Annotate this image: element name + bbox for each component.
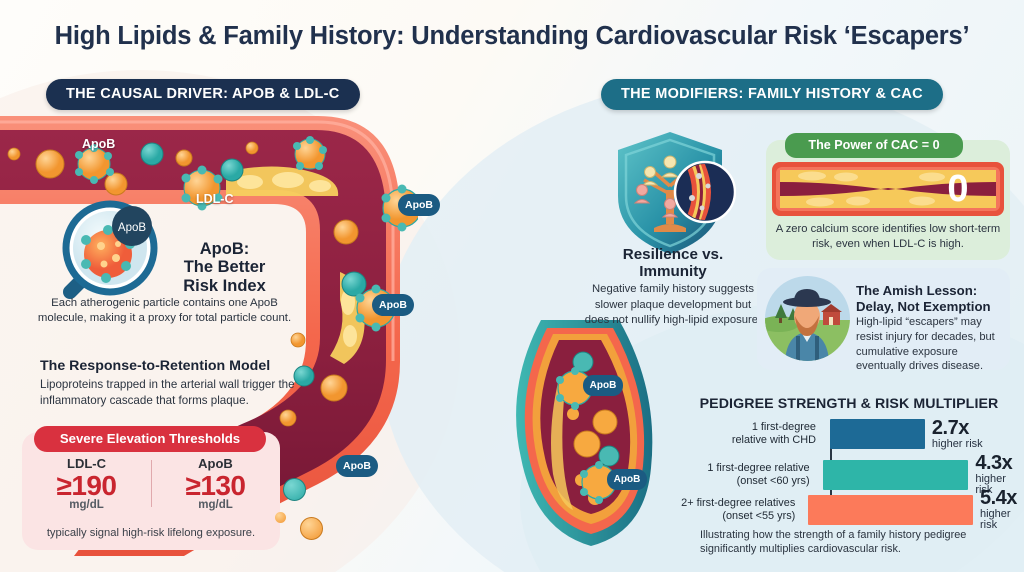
chart-category-line: relative with CHD	[732, 434, 816, 446]
threshold-item-ldlc: LDL-C ≥190 mg/dL	[22, 456, 151, 511]
chart-category-line: (onset <60 yrs)	[737, 475, 810, 487]
threshold-footer: typically signal high-risk lifelong expo…	[22, 527, 280, 539]
threshold-unit: mg/dL	[22, 499, 151, 511]
artery-particle-badge: ApoB	[398, 194, 440, 216]
threshold-value: ≥190	[22, 471, 151, 500]
chart-category-line: 1 first-degree relative	[707, 462, 809, 474]
chart-category-label: 2+ first-degree relatives (onset <55 yrs…	[660, 497, 802, 523]
chart-category-label: 1 first-degree relative (onset <60 yrs)	[660, 462, 817, 488]
amish-body: High-lipid “escapers” may resist injury …	[856, 315, 1008, 374]
apob-heading-line-2: The Better	[184, 258, 266, 276]
threshold-unit: mg/dL	[151, 499, 280, 511]
amish-heading-line-2: Delay, Not Exemption	[856, 299, 991, 314]
resilience-heading-line-1: Resilience vs.	[623, 246, 723, 263]
response-retention-heading: The Response-to-Retention Model	[40, 358, 270, 374]
free-particle-small-orange	[275, 512, 286, 523]
magnifier-badge-label: ApoB	[118, 222, 146, 234]
cac-panel-title: The Power of CAC = 0	[785, 133, 963, 158]
cac-caption: A zero calcium score identifies low shor…	[766, 222, 1010, 252]
chart-category-line: 2+ first-degree relatives	[681, 497, 795, 509]
pedigree-bar-chart: 1 first-degree relative with CHD 2.7x hi…	[660, 418, 1024, 518]
artery-label-ldlc: LDL-C	[196, 192, 234, 206]
chart-bar	[808, 495, 973, 525]
amish-portrait-image	[765, 276, 850, 361]
chart-value-sublabel: higher risk	[932, 439, 983, 450]
cac-score-value: 0	[935, 162, 981, 216]
apob-callout-body: Each atherogenic particle contains one A…	[32, 296, 297, 326]
chart-value-label: 2.7x	[932, 418, 983, 438]
shield-family-tree-icon	[604, 128, 736, 260]
artery-particle-badge: ApoB	[372, 294, 414, 316]
apob-callout-heading: ApoB: The Better Risk Index	[157, 240, 292, 295]
amish-heading: The Amish Lesson: Delay, Not Exemption	[856, 283, 1006, 314]
apob-heading-line-1: ApoB:	[200, 240, 249, 258]
chart-value-group: 5.4x higher risk	[980, 488, 1024, 531]
response-retention-body: Lipoproteins trapped in the arterial wal…	[40, 377, 318, 409]
pedigree-chart-caption: Illustrating how the strength of a famil…	[700, 528, 1020, 557]
chart-bar	[830, 419, 925, 449]
apob-heading-line-3: Risk Index	[183, 277, 266, 295]
threshold-item-apob: ApoB ≥130 mg/dL	[151, 456, 280, 511]
artery-particle-badge: ApoB	[607, 469, 647, 490]
chart-value-label: 5.4x	[980, 488, 1024, 508]
free-particle-orange	[300, 517, 323, 540]
infographic-canvas: High Lipids & Family History: Understand…	[0, 0, 1024, 572]
threshold-value: ≥130	[151, 471, 280, 500]
resilience-body: Negative family history suggests slower …	[584, 282, 762, 329]
chart-category-line: (onset <55 yrs)	[722, 510, 795, 522]
page-title: High Lipids & Family History: Understand…	[0, 22, 1024, 51]
chart-value-group: 2.7x higher risk	[932, 418, 983, 450]
threshold-card-title: Severe Elevation Thresholds	[34, 426, 266, 452]
amish-heading-line-1: The Amish Lesson:	[856, 283, 977, 298]
threshold-label: LDL-C	[22, 456, 151, 471]
section-header-modifiers: THE MODIFIERS: FAMILY HISTORY & CAC	[601, 79, 943, 110]
chart-category-line: 1 first-degree	[752, 421, 816, 433]
resilience-heading-line-2: Immunity	[639, 263, 707, 280]
resilience-heading: Resilience vs. Immunity	[598, 246, 748, 281]
chart-value-label: 4.3x	[975, 453, 1024, 473]
free-particle-teal	[283, 478, 306, 501]
artery-particle-badge: ApoB	[336, 455, 378, 477]
artery-illustration-secondary	[495, 318, 675, 548]
section-header-causal-driver: THE CAUSAL DRIVER: APOB & LDL-C	[46, 79, 360, 110]
chart-row: 1 first-degree relative with CHD 2.7x hi…	[660, 418, 1024, 450]
chart-category-label: 1 first-degree relative with CHD	[660, 421, 823, 447]
pedigree-chart-title: PEDIGREE STRENGTH & RISK MULTIPLIER	[684, 396, 1014, 412]
threshold-values-row: LDL-C ≥190 mg/dL ApoB ≥130 mg/dL	[22, 456, 280, 511]
artery-particle-badge: ApoB	[583, 375, 623, 396]
artery-label-apob: ApoB	[82, 137, 115, 151]
threshold-label: ApoB	[151, 456, 280, 471]
chart-row: 2+ first-degree relatives (onset <55 yrs…	[660, 488, 1024, 531]
chart-bar	[823, 460, 968, 490]
